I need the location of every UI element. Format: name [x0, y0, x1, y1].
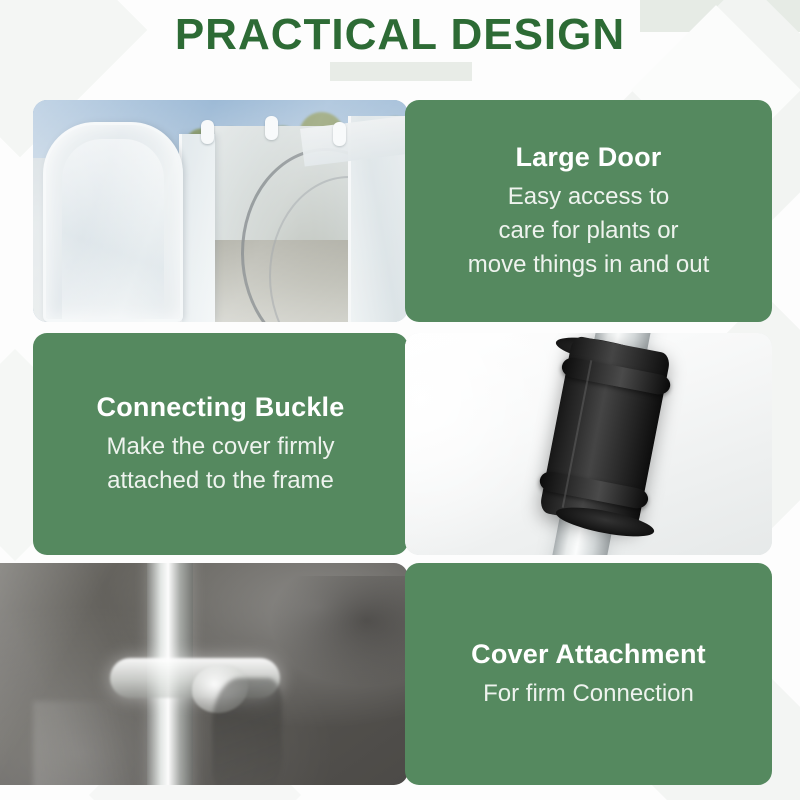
card-desc-line: care for plants or — [468, 214, 710, 248]
film-fold-a — [212, 678, 282, 785]
card-desc-line: attached to the frame — [106, 464, 334, 498]
card-title: Large Door — [515, 140, 661, 174]
film-fold-b — [33, 701, 163, 785]
door-flap-middle — [179, 134, 215, 322]
card-description: For firm Connection — [483, 677, 694, 711]
card-desc-line: move things in and out — [468, 248, 710, 282]
feature-card-large-door: Large Door Easy access to care for plant… — [33, 100, 772, 322]
title-underbar — [330, 62, 472, 81]
door-flap-left — [43, 122, 183, 322]
large-door-text-panel: Large Door Easy access to care for plant… — [405, 100, 772, 322]
card-title: Cover Attachment — [471, 637, 706, 671]
card-title: Connecting Buckle — [97, 390, 345, 424]
greenhouse-open-door-photo — [33, 100, 408, 322]
connecting-buckle-text-panel: Connecting Buckle Make the cover firmly … — [33, 333, 408, 555]
black-connector-buckle-photo — [405, 333, 772, 555]
cover-attachment-text-panel: Cover Attachment For firm Connection — [405, 563, 772, 785]
card-description: Make the cover firmly attached to the fr… — [106, 430, 334, 498]
card-description: Easy access to care for plants or move t… — [468, 180, 710, 282]
cover-clip-a — [201, 120, 214, 144]
page-title: PRACTICAL DESIGN — [0, 10, 800, 60]
photo-highlight — [405, 333, 570, 555]
cover-clip-on-pole-photo — [0, 563, 408, 785]
card-desc-line: Make the cover firmly — [106, 430, 334, 464]
shadow-region-right — [269, 576, 408, 687]
feature-card-connecting-buckle: Connecting Buckle Make the cover firmly … — [33, 333, 772, 555]
cover-clip-b — [265, 116, 278, 140]
card-desc-line: Easy access to — [468, 180, 710, 214]
card-desc-line: For firm Connection — [483, 677, 694, 711]
cover-clip-c — [333, 122, 346, 146]
header: PRACTICAL DESIGN — [0, 0, 800, 100]
feature-card-cover-attachment: Cover Attachment For firm Connection — [33, 563, 772, 785]
